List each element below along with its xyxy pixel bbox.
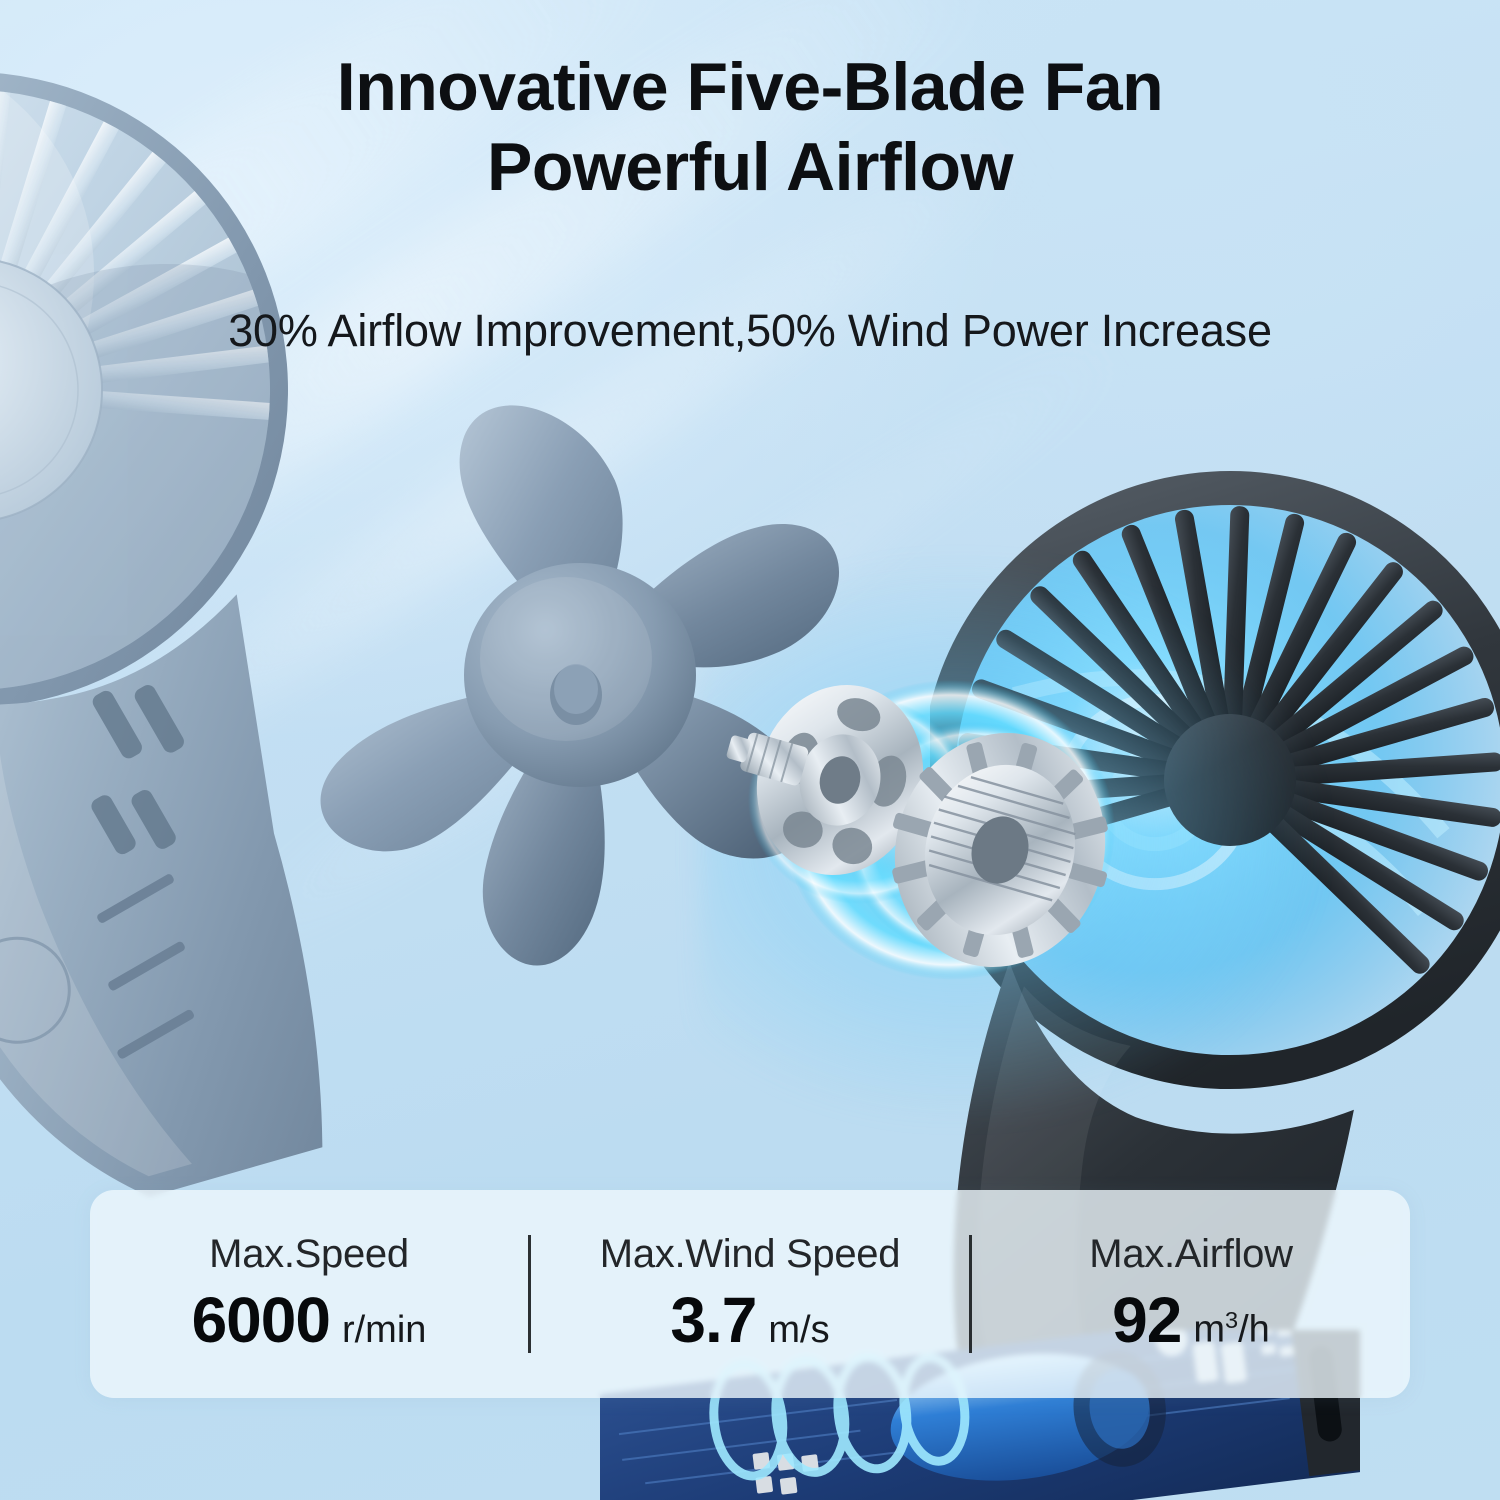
motor-assembly bbox=[700, 600, 1160, 1040]
subtitle: 30% Airflow Improvement,50% Wind Power I… bbox=[0, 305, 1500, 357]
headline-line-2: Powerful Airflow bbox=[0, 128, 1500, 208]
spec-label: Max.Speed bbox=[209, 1232, 409, 1277]
spec-value: 92 bbox=[1112, 1283, 1181, 1357]
spec-item-max-speed: Max.Speed 6000 r/min bbox=[90, 1232, 528, 1357]
spec-item-max-airflow: Max.Airflow 92 m3/h bbox=[972, 1232, 1410, 1357]
spec-panel: Max.Speed 6000 r/min Max.Wind Speed 3.7 … bbox=[90, 1190, 1410, 1398]
spec-unit-exponent: 3 bbox=[1225, 1307, 1238, 1333]
page-title: Innovative Five-Blade Fan Powerful Airfl… bbox=[0, 48, 1500, 207]
spec-unit-prefix: m bbox=[1193, 1309, 1225, 1351]
spec-unit: r/min bbox=[342, 1309, 426, 1352]
headline-line-1: Innovative Five-Blade Fan bbox=[337, 49, 1163, 125]
spec-unit-suffix: /h bbox=[1238, 1309, 1270, 1351]
spec-value: 6000 bbox=[192, 1283, 330, 1357]
spec-item-max-wind-speed: Max.Wind Speed 3.7 m/s bbox=[531, 1232, 969, 1357]
spec-value: 3.7 bbox=[670, 1283, 756, 1357]
product-feature-image: FA49 bbox=[0, 0, 1500, 1500]
spec-label: Max.Airflow bbox=[1089, 1232, 1292, 1277]
spec-label: Max.Wind Speed bbox=[600, 1232, 900, 1277]
spec-unit: m/s bbox=[768, 1309, 829, 1352]
spec-unit: m3/h bbox=[1193, 1307, 1269, 1352]
